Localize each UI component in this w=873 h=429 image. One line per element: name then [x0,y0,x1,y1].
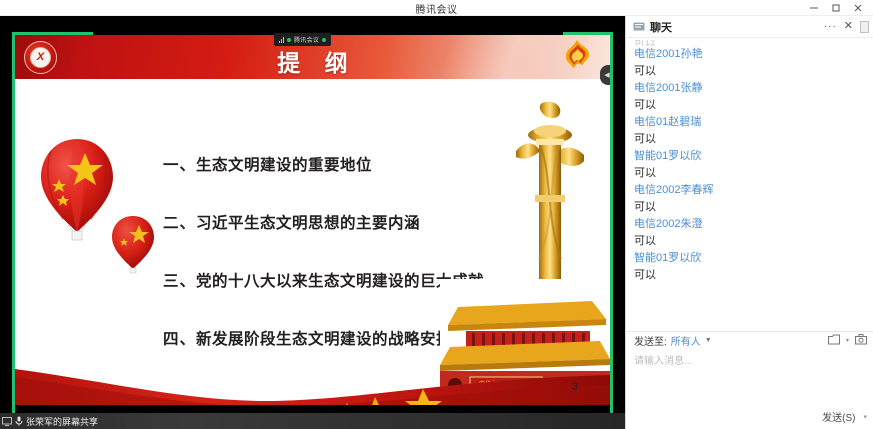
tencent-meeting-window: 腾讯会议 腾讯会议 X [0,0,873,429]
message-text: 可以 [634,267,873,284]
close-icon[interactable] [847,0,869,16]
screen-share-status-bar: 张荣军的屏幕共享 [0,413,625,429]
outline-item-4-text: 新发展阶段生态文明建设的战略安排 [196,331,452,348]
outline-item-4-number: 四、 [163,331,196,348]
emblem-letter: X [37,52,44,63]
outline-item-1-text: 生态文明建设的重要地位 [196,157,372,174]
message-text: 可以 [634,131,873,148]
message-sender: 智能01罗以欣 [634,148,873,165]
outline-item-3-number: 三、 [163,273,196,290]
screen-share-icon [2,417,12,426]
floating-meeting-pill[interactable]: 腾讯会议 [274,33,331,46]
close-chat-icon[interactable]: ✕ [844,21,853,32]
maximize-icon[interactable] [825,0,847,16]
gold-flame-ornament-icon [560,38,594,72]
send-to-dropdown[interactable]: 所有人 [671,333,701,348]
chat-header-actions: ··· ✕ [824,21,869,33]
message-text: 可以 [634,233,873,250]
send-to-row: 发送至: 所有人 ▼ ▾ [626,331,873,349]
collapse-arrow-chip[interactable]: ◀ [600,65,610,85]
send-options-chevron-icon[interactable]: ▾ [863,413,867,421]
chat-panel-header: 聊天 ··· ✕ [626,16,873,38]
chat-panel-title: 聊天 [650,19,672,35]
panel-resize-grip[interactable] [860,21,869,33]
shared-screen-area: 腾讯会议 X 提 纲 ◀ [0,16,625,429]
compose-toolbar: ▾ [828,334,867,348]
message-text: 可以 [634,97,873,114]
chat-panel: 聊天 ··· ✕ 可以 电信2001孙艳 可以 电信2001张静 可以 电信01… [625,16,873,429]
chevron-down-icon[interactable]: ▼ [705,337,712,344]
slide-body: 一、生态文明建设的重要地位 二、习近平生态文明思想的主要内涵 三、党的十八大以来… [15,79,610,417]
window-title: 腾讯会议 [0,1,873,16]
chat-message-list[interactable]: 可以 电信2001孙艳 可以 电信2001张静 可以 电信01赵碧瑞 可以 智能… [626,38,873,331]
window-controls [803,0,869,16]
message-sender: 电信2001孙艳 [634,46,873,63]
share-area-black-strip [0,405,625,413]
hot-air-balloon-small-icon [110,214,156,276]
hot-air-balloon-large-icon [35,137,119,247]
message-sender: 电信01赵碧瑞 [634,114,873,131]
outline-item-2-text: 习近平生态文明思想的主要内涵 [196,215,420,232]
message-sender: 电信2002朱澄 [634,216,873,233]
chat-message: 电信2002李春辉 可以 [634,182,873,216]
message-text: 可以 [634,165,873,182]
slide-page-number: 3 [572,381,578,393]
green-dot-icon [287,38,291,42]
message-text: 可以 [634,199,873,216]
microphone-icon[interactable] [15,416,23,426]
green-dot-icon-2 [322,38,326,42]
file-attach-icon[interactable] [828,334,840,348]
signal-bars-icon [279,36,284,43]
chat-icon [633,22,645,32]
chat-message: 电信01赵碧瑞 可以 [634,114,873,148]
outline-item-1: 一、生态文明建设的重要地位 [163,153,563,175]
more-options-icon[interactable]: ··· [824,22,837,32]
chat-message: 电信2001孙艳 可以 [634,46,873,80]
message-text: 可以 [634,63,873,80]
send-to-label: 发送至: [634,333,667,348]
outline-item-2-number: 二、 [163,215,196,232]
window-title-bar: 腾讯会议 [0,0,873,16]
chat-message: 电信2001张静 可以 [634,80,873,114]
screenshot-icon[interactable] [855,334,867,348]
floating-pill-label: 腾讯会议 [294,35,319,44]
school-emblem-icon: X [24,41,57,74]
outline-item-2: 二、习近平生态文明思想的主要内涵 [163,211,563,233]
chat-message: 电信2002朱澄 可以 [634,216,873,250]
message-sender: 智能01罗以欣 [634,250,873,267]
screen-share-status-text: 张荣军的屏幕共享 [26,415,98,428]
message-sender: 电信2001张静 [634,80,873,97]
minimize-icon[interactable] [803,0,825,16]
file-attach-chevron-icon[interactable]: ▾ [846,337,849,344]
chat-message: 智能01罗以欣 可以 [634,148,873,182]
slide-title: 提 纲 [15,44,610,78]
outline-item-1-number: 一、 [163,157,196,174]
chat-message: 智能01罗以欣 可以 [634,250,873,284]
chat-input-area[interactable]: 发送(S) ▾ [626,349,873,429]
send-button[interactable]: 发送(S) [818,408,859,425]
presentation-slide: X 提 纲 ◀ [15,35,610,417]
send-controls: 发送(S) ▾ [818,408,867,425]
message-sender: 电信2002李春辉 [634,182,873,199]
